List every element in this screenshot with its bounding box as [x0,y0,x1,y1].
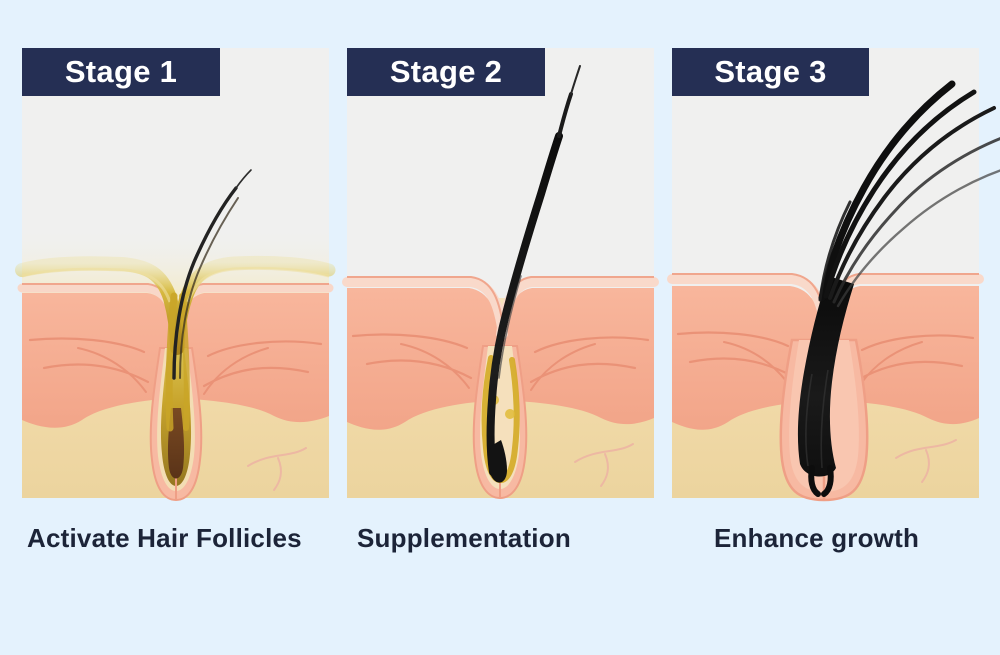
stage-2-caption: Supplementation [357,523,571,554]
stage-3-badge: Stage 3 [672,48,869,96]
stage-panel-2: Stage 2 [347,48,654,498]
stage-3-illustration [672,48,979,498]
stage-panel-3: Stage 3 [672,48,979,498]
hair-growth-stages-infographic: Stage 1 [0,0,1000,655]
stage-1-caption: Activate Hair Follicles [27,523,302,554]
stage-2-illustration [347,48,654,498]
stage-panel-1: Stage 1 [22,48,329,498]
stage-1-illustration [22,48,329,498]
stage-2-badge: Stage 2 [347,48,545,96]
stage-1-badge: Stage 1 [22,48,220,96]
stage-3-caption: Enhance growth [714,523,919,554]
